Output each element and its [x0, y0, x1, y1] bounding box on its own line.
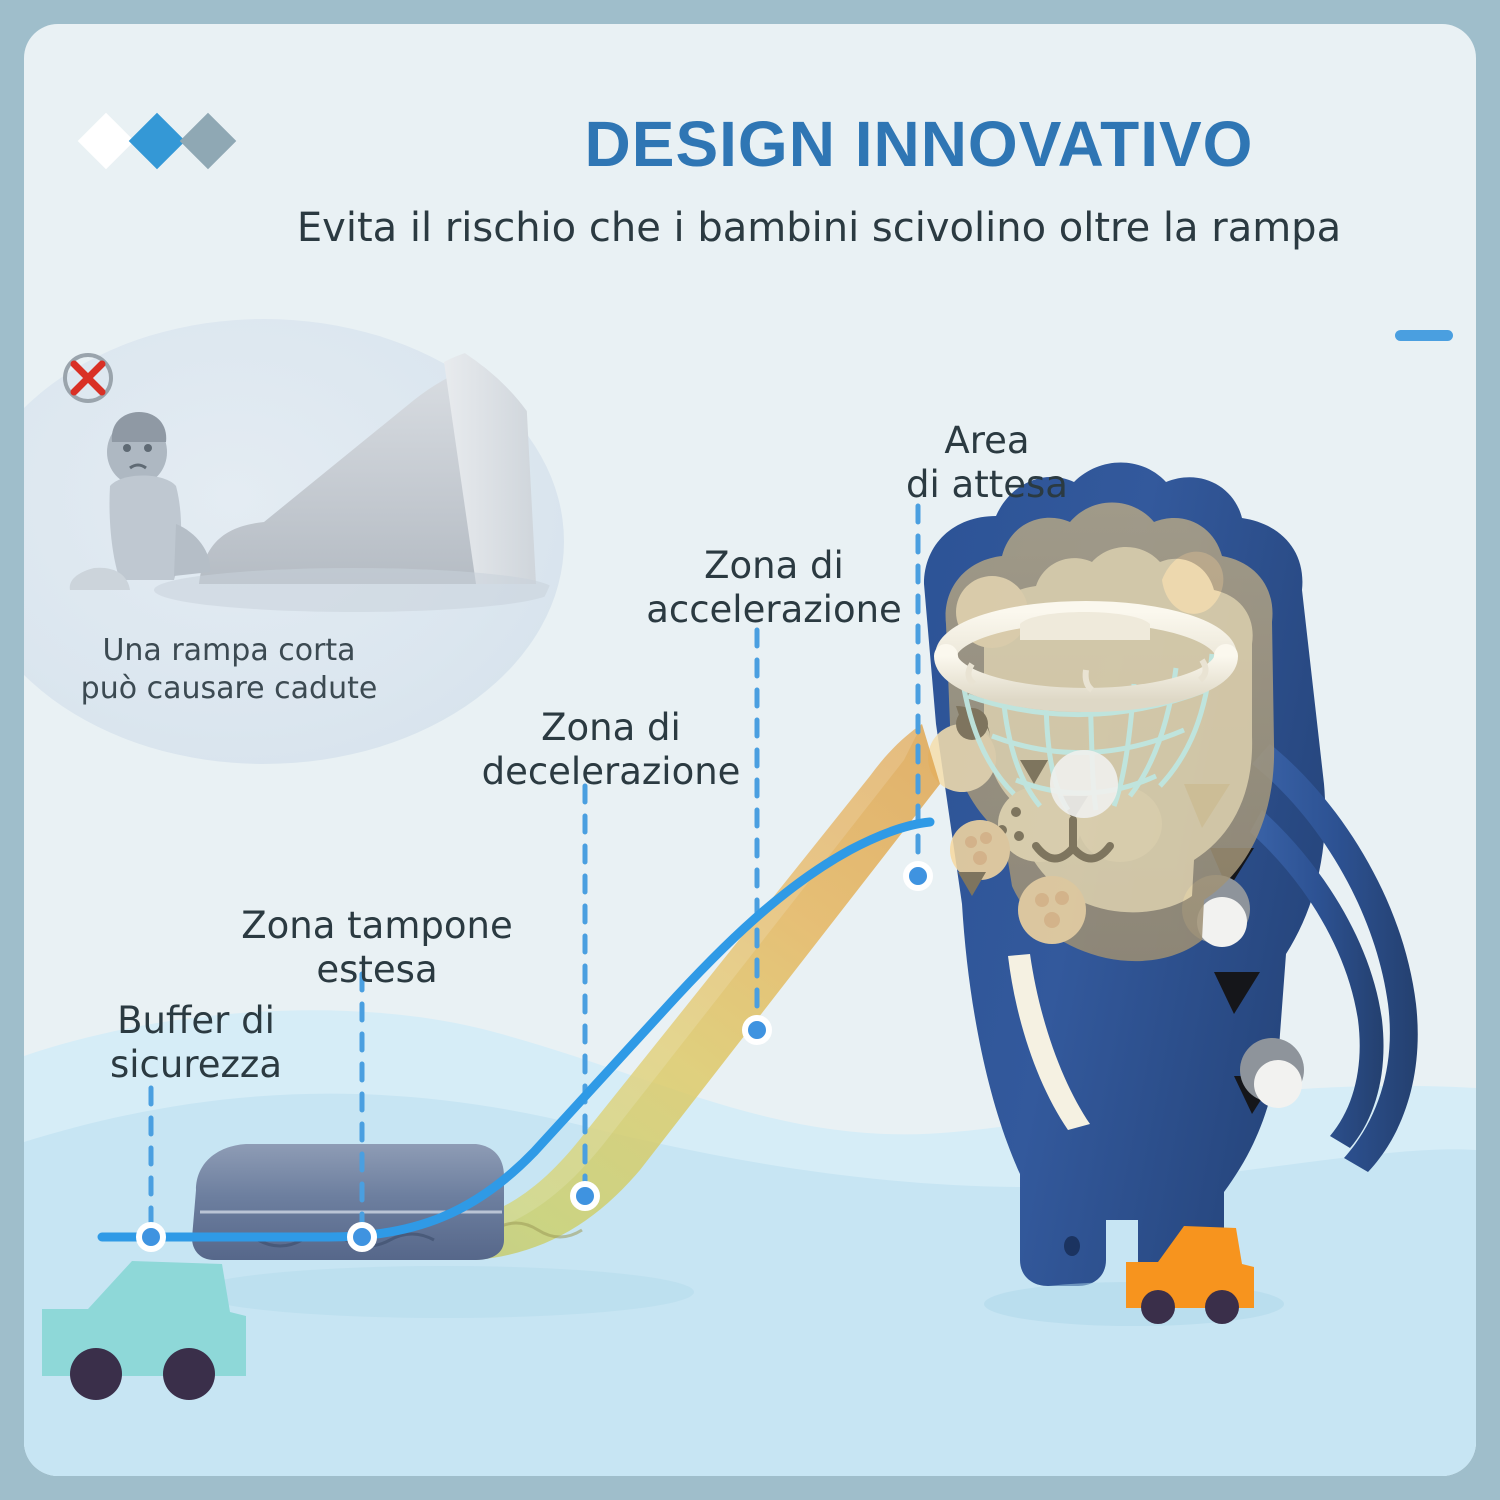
inner-panel: DESIGN INNOVATIVO Evita il rischio che i…	[24, 24, 1476, 1476]
diamond-gray	[180, 113, 237, 170]
infographic-root: DESIGN INNOVATIVO Evita il rischio che i…	[0, 0, 1500, 1500]
callout-label-zona-decelerazione: Zona di decelerazione	[436, 706, 786, 795]
bear-inner-ear	[1162, 552, 1223, 614]
diamond-blue	[129, 113, 186, 170]
cutout-triangle	[1210, 848, 1254, 890]
page-subtitle: Evita il rischio che i bambini scivolino…	[174, 204, 1464, 252]
page-title: DESIGN INNOVATIVO	[384, 110, 1454, 179]
cutout-triangle	[1184, 784, 1230, 828]
inset-caption-line2: può causare cadute	[24, 670, 434, 708]
accent-dash	[1395, 330, 1453, 341]
paw-pad	[1018, 876, 1086, 944]
diamond-white	[78, 113, 135, 170]
callout-label-zona-accelerazione: Zona di accelerazione	[594, 544, 954, 633]
inset-caption-line1: Una rampa corta	[24, 632, 434, 670]
callout-label-buffer-sicurezza: Buffer di sicurezza	[66, 999, 326, 1088]
inset-caption: Una rampa corta può causare cadute	[24, 632, 434, 709]
logo	[74, 109, 274, 173]
callout-label-zona-tampone: Zona tampone estesa	[202, 904, 552, 993]
hoop-backplate	[1020, 612, 1150, 640]
callout-label-area-attesa: Area di attesa	[852, 419, 1122, 508]
mini-ball	[1050, 750, 1118, 818]
paw-pad	[950, 820, 1010, 880]
hoop-net	[960, 654, 1212, 810]
bear-face-graphic	[928, 503, 1274, 962]
hoop-rim	[946, 612, 1226, 700]
